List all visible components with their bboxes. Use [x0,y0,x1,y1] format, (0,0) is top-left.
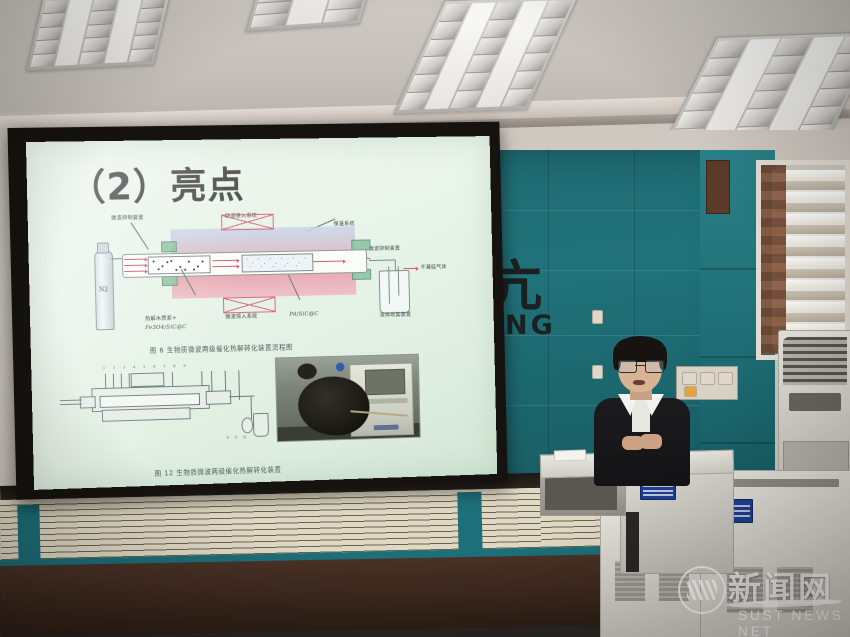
suppressor-block [161,241,177,252]
label-liquid-collector: 液体收集装置 [380,311,412,319]
wall-duct [706,160,730,214]
figure-6-flow-diagram: 微波抑制装置 微波馈入系统 保温系统 微波抑制装置 [85,209,437,347]
catalyst-bed-stage-2 [241,253,313,272]
photo-analyzer-display [365,369,406,396]
label-microwave-suppressor-right: 微波抑制装置 [369,245,401,252]
label-catalyst-1: Fe3O4/SiC@C [145,324,186,331]
figure-12-line-drawing: 1 2 3 4 5 6 7 8 9 ⑩ ⑪ [55,362,271,450]
ac-vent-icon [783,337,847,385]
ceiling-light-fixture [25,0,171,71]
slide-title: （2）亮点 [68,155,245,211]
glasses-icon [618,360,662,371]
label-catalyst-2: Pd/SiC@C [289,311,318,318]
photo-valve-knob [336,363,345,372]
speaker-hand-right [640,434,662,449]
watermark-english: SUST NEWS NET [738,607,844,637]
watermark: 新闻网 SUST NEWS NET [678,560,844,626]
university-seal-icon [678,566,726,614]
cylinder-valve-icon [97,242,109,253]
ac-display [789,393,841,411]
magnetron-bottom-icon [223,296,276,313]
figure-12-equipment-photo [275,354,421,442]
paper-sheet[interactable] [554,449,586,461]
photo-analyzer-logo [374,425,399,431]
teal-pillar [457,492,482,555]
speaker-mouth [633,380,645,385]
projection-screen[interactable]: （2）亮点 微波抑制装置 微波馈入系统 保温系统 微波抑制装置 [26,136,497,490]
label-pyrolysis-lignin: 热解木质素+ [145,315,177,323]
wall-socket[interactable] [592,310,603,324]
label-microwave-suppressor-left: 微波抑制装置 [111,214,144,222]
label-microwave-feed-bottom: 微波馈入系统 [225,313,257,321]
photo-pressure-regulator [297,363,317,379]
magnetron-top-icon [221,214,274,231]
figure-12-caption: 图 12 生物质微波两级催化热解转化装置 [154,464,281,478]
label-noncondensable-gas: 不凝结气体 [421,263,447,270]
speaker-hair [615,336,665,362]
drawing-item-numbers: 1 2 3 4 5 6 7 8 9 [103,364,189,370]
presentation-room-photo: 亢 ING [0,0,850,637]
liquid-collection-flask [379,270,410,314]
wall-socket[interactable] [718,372,733,385]
catalyst-bed-stage-1 [148,255,211,274]
leader-line [131,222,149,249]
speaker-shirt [632,402,650,432]
teal-pillar [17,505,40,567]
wall-socket[interactable] [700,372,715,385]
speaker [588,336,696,486]
lectern-leg [626,512,639,572]
cylinder-label: N2 [99,286,108,293]
